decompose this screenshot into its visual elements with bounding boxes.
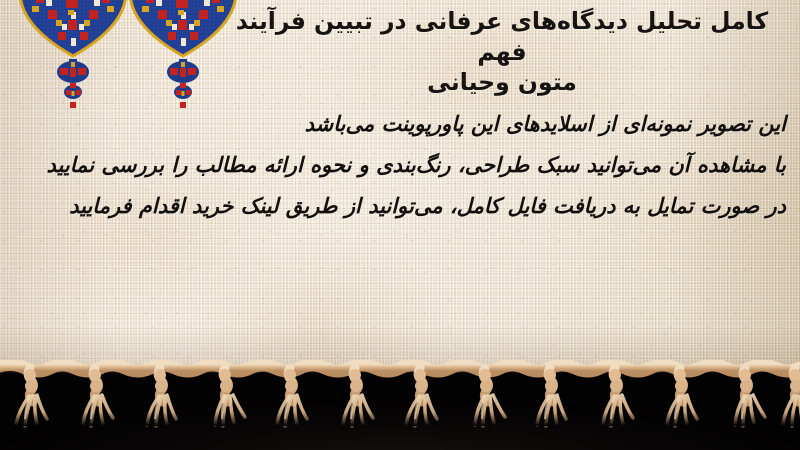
slide-body-line-1: این تصویر نمونه‌ای از اسلایدهای این پاور… xyxy=(10,104,786,145)
slide-body-line-2: با مشاهده آن می‌توانید سبک طراحی، رنگ‌بن… xyxy=(10,145,786,186)
slide-canvas: کامل تحلیل دیدگاه‌های عرفانی در تبیین فر… xyxy=(0,0,800,450)
pendant-drop-lower xyxy=(174,83,192,99)
medallion-icon xyxy=(18,0,128,109)
slide-title: کامل تحلیل دیدگاه‌های عرفانی در تبیین فر… xyxy=(222,6,782,98)
pendant-drop-upper xyxy=(167,59,199,83)
slide-title-line-1: کامل تحلیل دیدگاه‌های عرفانی در تبیین فر… xyxy=(222,6,782,67)
slide-body-line-3: در صورت تمایل به دریافت فایل کامل، می‌تو… xyxy=(10,186,786,227)
slide-title-line-2: متون وحیانی xyxy=(222,67,782,98)
persian-medallion-pendant-ornament-left xyxy=(18,0,128,113)
pendant-drop-upper xyxy=(57,59,89,83)
carpet-fringe-tassels xyxy=(0,360,800,450)
pendant-drop-lower xyxy=(64,83,82,99)
slide-body: این تصویر نمونه‌ای از اسلایدهای این پاور… xyxy=(10,104,786,227)
